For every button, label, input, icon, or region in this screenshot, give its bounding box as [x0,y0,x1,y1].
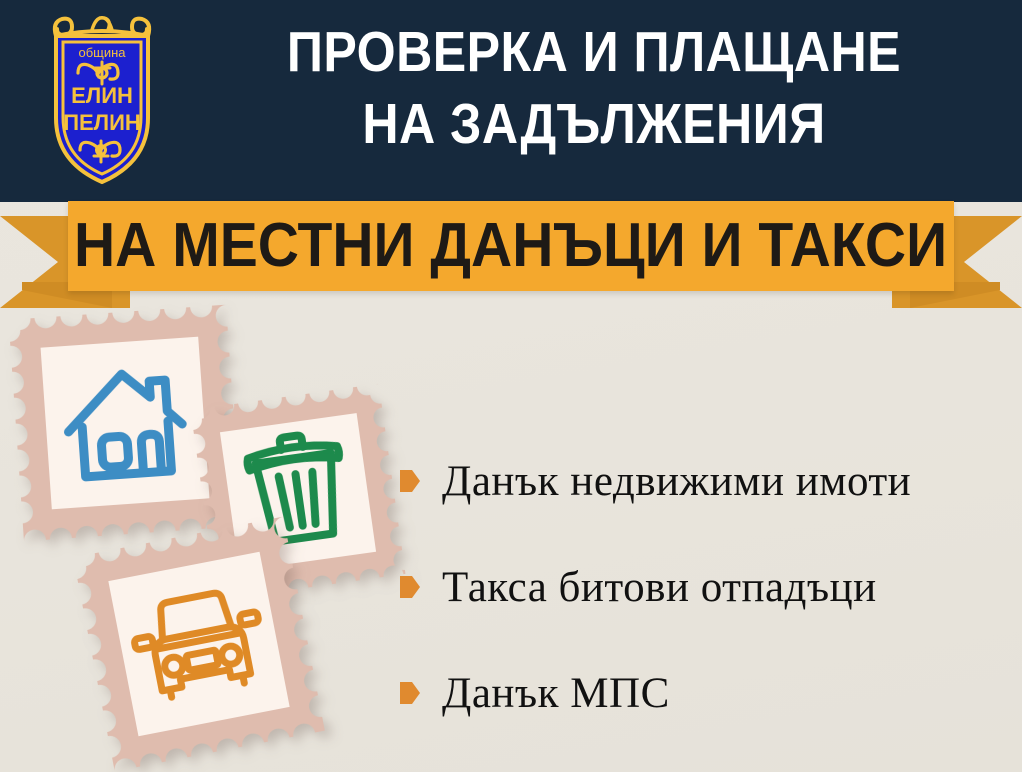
crest-word-line2: ПЕЛИН [63,110,141,135]
list-item-label: Такса битови отпадъци [442,563,877,612]
list-item-label: Данък недвижими имоти [442,457,911,506]
header-banner: община ЕЛИН ПЕЛИН ПРОВЕРКА И ПЛАЩАНЕ НА … [0,0,1022,202]
list-item[interactable]: Такса битови отпадъци [400,534,1015,640]
ribbon-label: НА МЕСТНИ ДАНЪЦИ И ТАКСИ [74,215,947,277]
list-item-label: Данък МПС [442,669,670,718]
list-item[interactable]: Данък МПС [400,640,1015,746]
ribbon-band: НА МЕСТНИ ДАНЪЦИ И ТАКСИ [68,201,954,291]
arrow-bullet-icon [400,576,420,598]
municipality-crest-logo: община ЕЛИН ПЕЛИН [38,10,166,188]
poster-canvas: община ЕЛИН ПЕЛИН ПРОВЕРКА И ПЛАЩАНЕ НА … [0,0,1022,772]
list-item[interactable]: Данък недвижими имоти [400,428,1015,534]
page-title-line1: ПРОВЕРКА И ПЛАЩАНЕ [230,16,959,88]
crest-word-line1: ЕЛИН [71,83,133,108]
arrow-bullet-icon [400,470,420,492]
tax-types-list: Данък недвижими имоти Такса битови отпад… [400,428,1015,746]
page-title-line2: НА ЗАДЪЛЖЕНИЯ [230,88,959,160]
arrow-bullet-icon [400,682,420,704]
stamp-card-vehicle [73,517,325,772]
subtitle-ribbon: НА МЕСТНИ ДАНЪЦИ И ТАКСИ [0,196,1022,308]
page-title: ПРОВЕРКА И ПЛАЩАНЕ НА ЗАДЪЛЖЕНИЯ [230,16,959,160]
crest-word-small: община [78,45,126,60]
